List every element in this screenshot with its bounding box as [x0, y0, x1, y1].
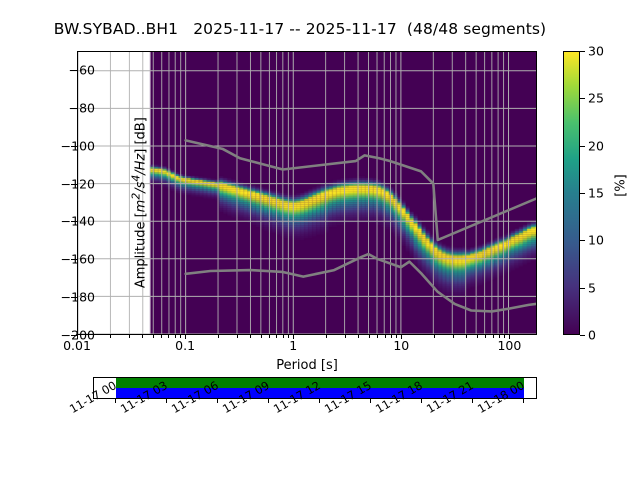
x-tick-minor — [161, 335, 162, 338]
x-tick-minor — [237, 335, 238, 338]
timeline-tick-mark — [472, 399, 473, 403]
timeline-tick-mark — [115, 399, 116, 403]
y-tick-label: −180 — [61, 290, 95, 305]
x-tick-minor — [434, 335, 435, 338]
y-tick-label: −100 — [61, 138, 95, 153]
timeline-tick-mark — [523, 399, 524, 403]
colorbar-tick-label: 10 — [588, 233, 604, 248]
x-tick-minor — [218, 335, 219, 338]
x-tick-label: 0.1 — [175, 338, 195, 353]
x-tick-minor — [485, 335, 486, 338]
x-tick-minor — [345, 335, 346, 338]
x-tick-label: 1 — [289, 338, 297, 353]
colorbar-tick-mark — [580, 98, 585, 99]
y-tick-label: −140 — [61, 214, 95, 229]
colorbar-tick-label: 0 — [588, 328, 596, 343]
timeline-tick-mark — [166, 399, 167, 403]
x-tick-minor — [168, 335, 169, 338]
x-tick-minor — [110, 335, 111, 338]
x-tick-minor — [283, 335, 284, 338]
x-tick-minor — [493, 335, 494, 338]
colorbar-tick-label: 5 — [588, 280, 596, 295]
page-title: BW.SYBAD..BH1 2025-11-17 -- 2025-11-17 (… — [0, 20, 600, 38]
colorbar-label: [%] — [614, 166, 629, 206]
x-tick-minor — [369, 335, 370, 338]
y-tick-label: −80 — [69, 100, 95, 115]
colorbar-tick-mark — [580, 146, 585, 147]
timeline-tick-mark — [319, 399, 320, 403]
x-tick-label: 10 — [393, 338, 409, 353]
x-tick-minor — [391, 335, 392, 338]
timeline-tick-mark — [217, 399, 218, 403]
x-tick-minor — [250, 335, 251, 338]
colorbar-tick-mark — [580, 193, 585, 194]
x-tick-minor — [466, 335, 467, 338]
colorbar-tick-label: 25 — [588, 91, 604, 106]
x-tick-minor — [276, 335, 277, 338]
x-tick-label: 100 — [497, 338, 521, 353]
x-tick-minor — [377, 335, 378, 338]
timeline-tick-mark — [421, 399, 422, 403]
x-tick-minor — [129, 335, 130, 338]
y-axis-label: Amplitude [m2/s4/Hz] [dB] — [129, 58, 148, 348]
y-tick-label: −60 — [69, 62, 95, 77]
x-tick-label: 0.01 — [63, 338, 91, 353]
colorbar-tick-mark — [580, 335, 585, 336]
colorbar-tick-label: 30 — [588, 44, 604, 59]
x-tick-minor — [326, 335, 327, 338]
colorbar-tick-label: 20 — [588, 138, 604, 153]
colorbar-tick-mark — [580, 240, 585, 241]
x-tick-minor — [142, 335, 143, 338]
x-axis-label: Period [s] — [77, 358, 537, 373]
colorbar-tick-mark — [580, 51, 585, 52]
y-tick-label: −120 — [61, 176, 95, 191]
x-tick-minor — [385, 335, 386, 338]
x-tick-minor — [153, 335, 154, 338]
x-tick-minor — [269, 335, 270, 338]
x-tick-minor — [453, 335, 454, 338]
timeline-tick-mark — [370, 399, 371, 403]
colorbar — [563, 51, 580, 335]
x-tick-minor — [261, 335, 262, 338]
x-tick-minor — [358, 335, 359, 338]
colorbar-tick-label: 15 — [588, 186, 604, 201]
x-tick-minor — [477, 335, 478, 338]
colorbar-tick-mark — [580, 288, 585, 289]
y-tick-label: −160 — [61, 252, 95, 267]
timeline-tick-mark — [268, 399, 269, 403]
